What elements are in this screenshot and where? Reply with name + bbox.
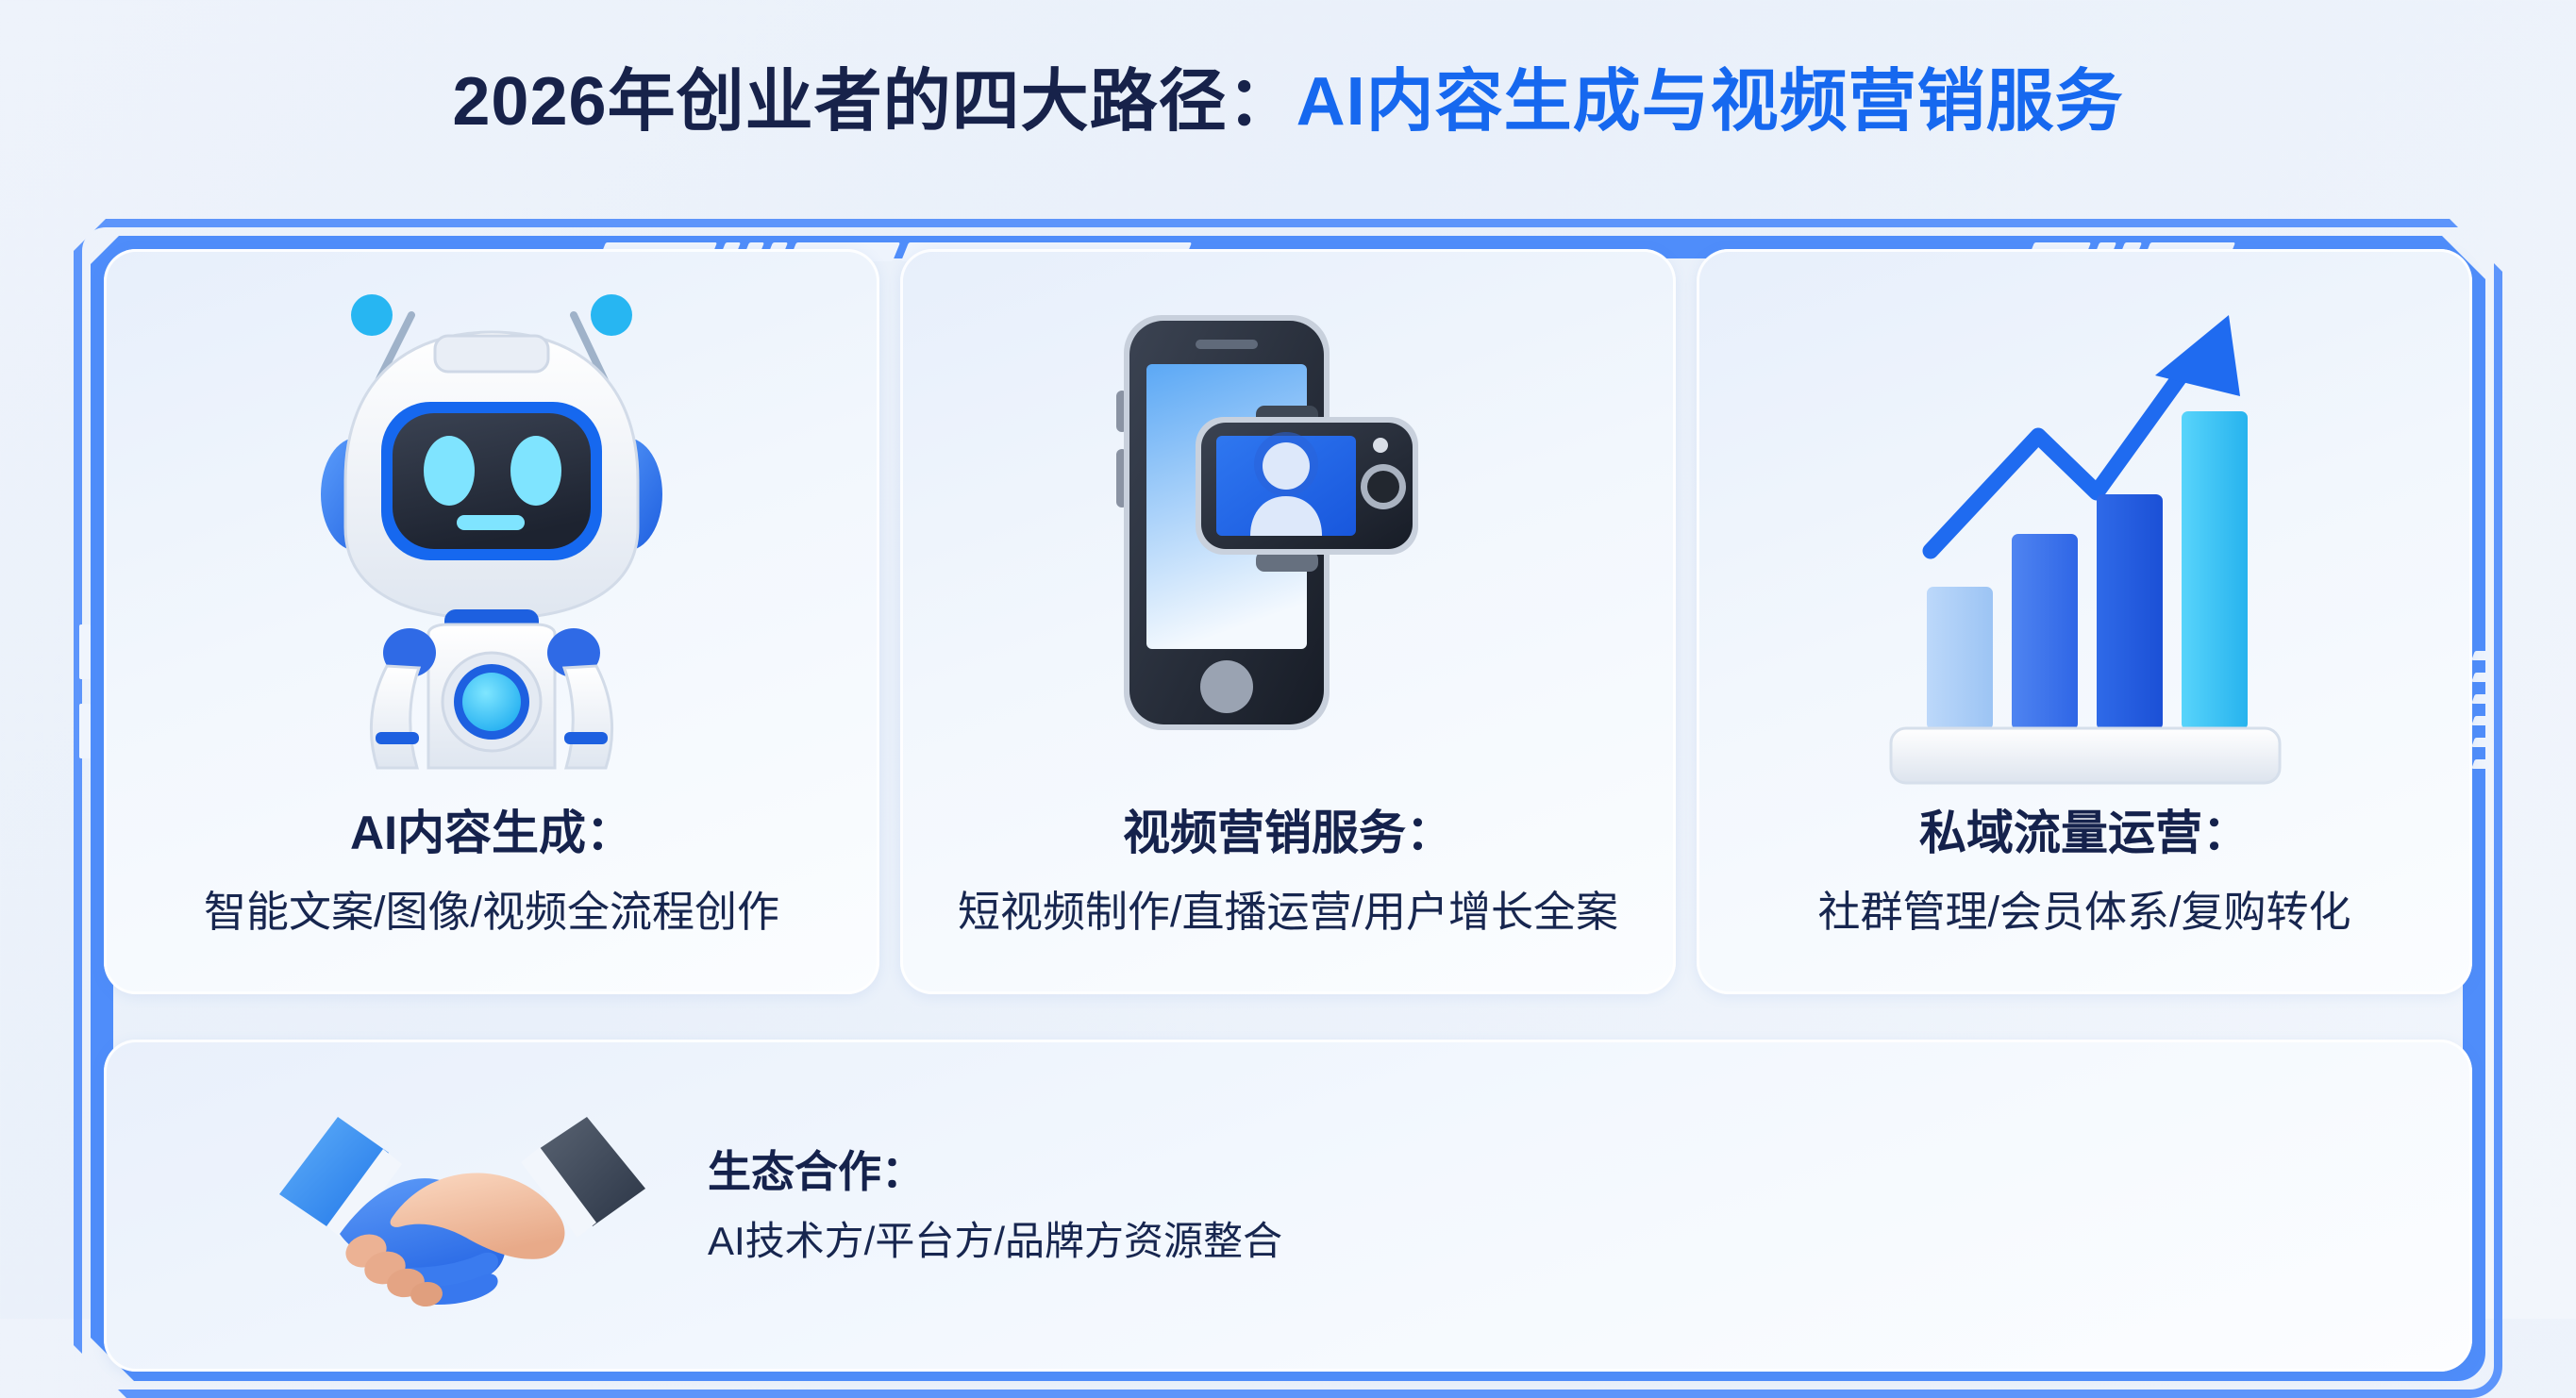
page-title-blue: AI内容生成与视频营销服务 [1296, 64, 2124, 140]
frame-left-notch-decoration [79, 624, 91, 804]
path-card-row: AI内容生成： 智能文案/图像/视频全流程创作 [104, 249, 2472, 994]
card-heading-1: AI内容生成： [350, 809, 633, 857]
eco-text-block: 生态合作： AI技术方/平台方/品牌方资源整合 [708, 1150, 1282, 1261]
page-title: 2026年创业者的四大路径：AI内容生成与视频营销服务 [0, 45, 2576, 144]
eco-heading: 生态合作： [708, 1150, 1282, 1193]
eco-subtitle: AI技术方/平台方/品牌方资源整合 [708, 1222, 1282, 1261]
card-area: AI内容生成： 智能文案/图像/视频全流程创作 [104, 249, 2472, 1372]
card-heading-2: 视频营销服务： [1123, 809, 1453, 857]
card-heading-3: 私域流量运营： [1919, 809, 2250, 857]
card-illustration-1 [104, 249, 879, 815]
bar-chart-growth-icon [1863, 277, 2306, 806]
smartphone-video-camera-icon [1090, 277, 1486, 806]
card-subtitle-3: 社群管理/会员体系/复购转化 [1817, 890, 2350, 933]
handshake-icon [264, 1083, 661, 1328]
card-illustration-3 [1697, 249, 2472, 815]
card-subtitle-2: 短视频制作/直播运营/用户增长全案 [958, 890, 1618, 933]
robot-3d-icon [270, 277, 713, 806]
eco-illustration [264, 1083, 661, 1328]
page-title-dark: 2026年创业者的四大路径： [452, 64, 1296, 140]
card-subtitle-1: 智能文案/图像/视频全流程创作 [204, 890, 779, 933]
eco-partnership-banner[interactable]: 生态合作： AI技术方/平台方/品牌方资源整合 [104, 1040, 2472, 1372]
card-illustration-2 [900, 249, 1676, 815]
path-card-private-traffic[interactable]: 私域流量运营： 社群管理/会员体系/复购转化 [1697, 249, 2472, 994]
path-card-ai-content[interactable]: AI内容生成： 智能文案/图像/视频全流程创作 [104, 249, 879, 994]
path-card-video-marketing[interactable]: 视频营销服务： 短视频制作/直播运营/用户增长全案 [900, 249, 1676, 994]
